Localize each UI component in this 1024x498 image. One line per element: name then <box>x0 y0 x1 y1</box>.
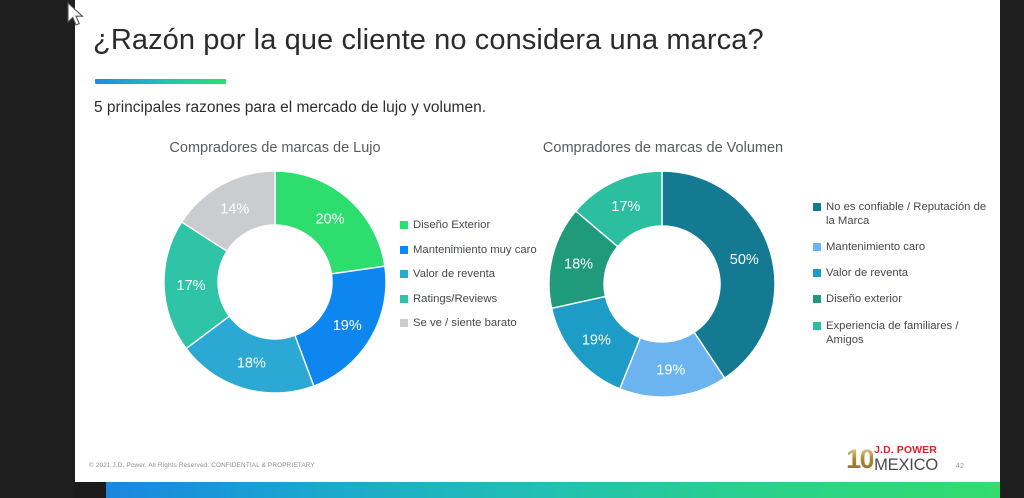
pie-slice-label: 18% <box>564 256 593 272</box>
viewer-right-margin <box>1000 0 1024 498</box>
title-accent-rule <box>95 79 226 84</box>
logo-brand-text: J.D. POWER <box>874 445 938 456</box>
legend-item[interactable]: Mantenimiento caro <box>813 240 1000 254</box>
donut-chart-volume: 50%19%19%18%17% <box>548 170 776 398</box>
pie-slice-label: 19% <box>333 318 362 334</box>
chart-volume: Compradores de marcas de Volumen 50%19%1… <box>493 140 998 400</box>
viewer-left-margin <box>0 0 75 498</box>
legend-swatch-icon <box>400 295 408 303</box>
bottom-accent-strip <box>106 482 1000 498</box>
legend-item-label: Valor de reventa <box>413 267 495 281</box>
legend-item[interactable]: Diseño exterior <box>813 292 1000 306</box>
pie-slice-label: 18% <box>237 356 266 372</box>
chart-luxury: Compradores de marcas de Lujo 20%19%18%1… <box>110 140 510 400</box>
legend-item-label: No es confiable / Reputación de la Marca <box>826 200 986 228</box>
legend-item[interactable]: No es confiable / Reputación de la Marca <box>813 200 1000 228</box>
pie-slice-label: 20% <box>315 212 344 228</box>
slide-canvas: ¿Razón por la que cliente no considera u… <box>75 0 1000 482</box>
pie-slice-label: 17% <box>177 278 206 294</box>
legend-volume: No es confiable / Reputación de la Marca… <box>813 200 1000 359</box>
page-title: ¿Razón por la que cliente no considera u… <box>93 24 764 57</box>
pie-slice-label: 14% <box>220 201 249 217</box>
pie-slice-label: 50% <box>730 252 759 268</box>
legend-item-label: Mantenimiento caro <box>826 240 925 254</box>
chart-title-volume: Compradores de marcas de Volumen <box>493 140 833 156</box>
legend-item-label: Ratings/Reviews <box>413 292 497 306</box>
pie-slice-label: 19% <box>582 333 611 349</box>
page-subtitle: 5 principales razones para el mercado de… <box>94 99 486 117</box>
legend-swatch-icon <box>813 322 821 330</box>
chart-title-luxury: Compradores de marcas de Lujo <box>110 140 440 156</box>
legend-item[interactable]: Valor de reventa <box>813 266 1000 280</box>
legend-swatch-icon <box>400 270 408 278</box>
logo-wordmark: J.D. POWER MEXICO <box>874 445 938 473</box>
footer-copyright: © 2021 J.D. Power. All Rights Reserved. … <box>89 462 315 469</box>
donut-svg-volume: 50%19%19%18%17% <box>548 170 776 398</box>
legend-item-label: Diseño Exterior <box>413 218 490 232</box>
legend-swatch-icon <box>400 221 408 229</box>
legend-item-label: Valor de reventa <box>826 266 908 280</box>
legend-swatch-icon <box>813 269 821 277</box>
mouse-cursor-icon <box>66 2 86 33</box>
legend-swatch-icon <box>813 295 821 303</box>
legend-swatch-icon <box>400 246 408 254</box>
slide-page-number: 42 <box>956 461 964 470</box>
legend-item-label: Experiencia de familiares / Amigos <box>826 319 959 347</box>
pie-slice-label: 19% <box>656 363 685 379</box>
jd-power-logo: 10 J.D. POWER MEXICO <box>846 445 938 473</box>
presentation-viewer: ¿Razón por la que cliente no considera u… <box>0 0 1024 498</box>
pie-slice-label: 17% <box>611 199 640 215</box>
legend-swatch-icon <box>813 203 821 211</box>
logo-region-text: MEXICO <box>874 457 938 474</box>
legend-swatch-icon <box>400 319 408 327</box>
legend-item[interactable]: Experiencia de familiares / Amigos <box>813 319 1000 347</box>
legend-swatch-icon <box>813 243 821 251</box>
logo-anniversary-10: 10 <box>846 446 873 473</box>
donut-chart-luxury: 20%19%18%17%14% <box>163 170 387 394</box>
legend-item-label: Diseño exterior <box>826 292 902 306</box>
donut-svg-luxury: 20%19%18%17%14% <box>163 170 387 394</box>
